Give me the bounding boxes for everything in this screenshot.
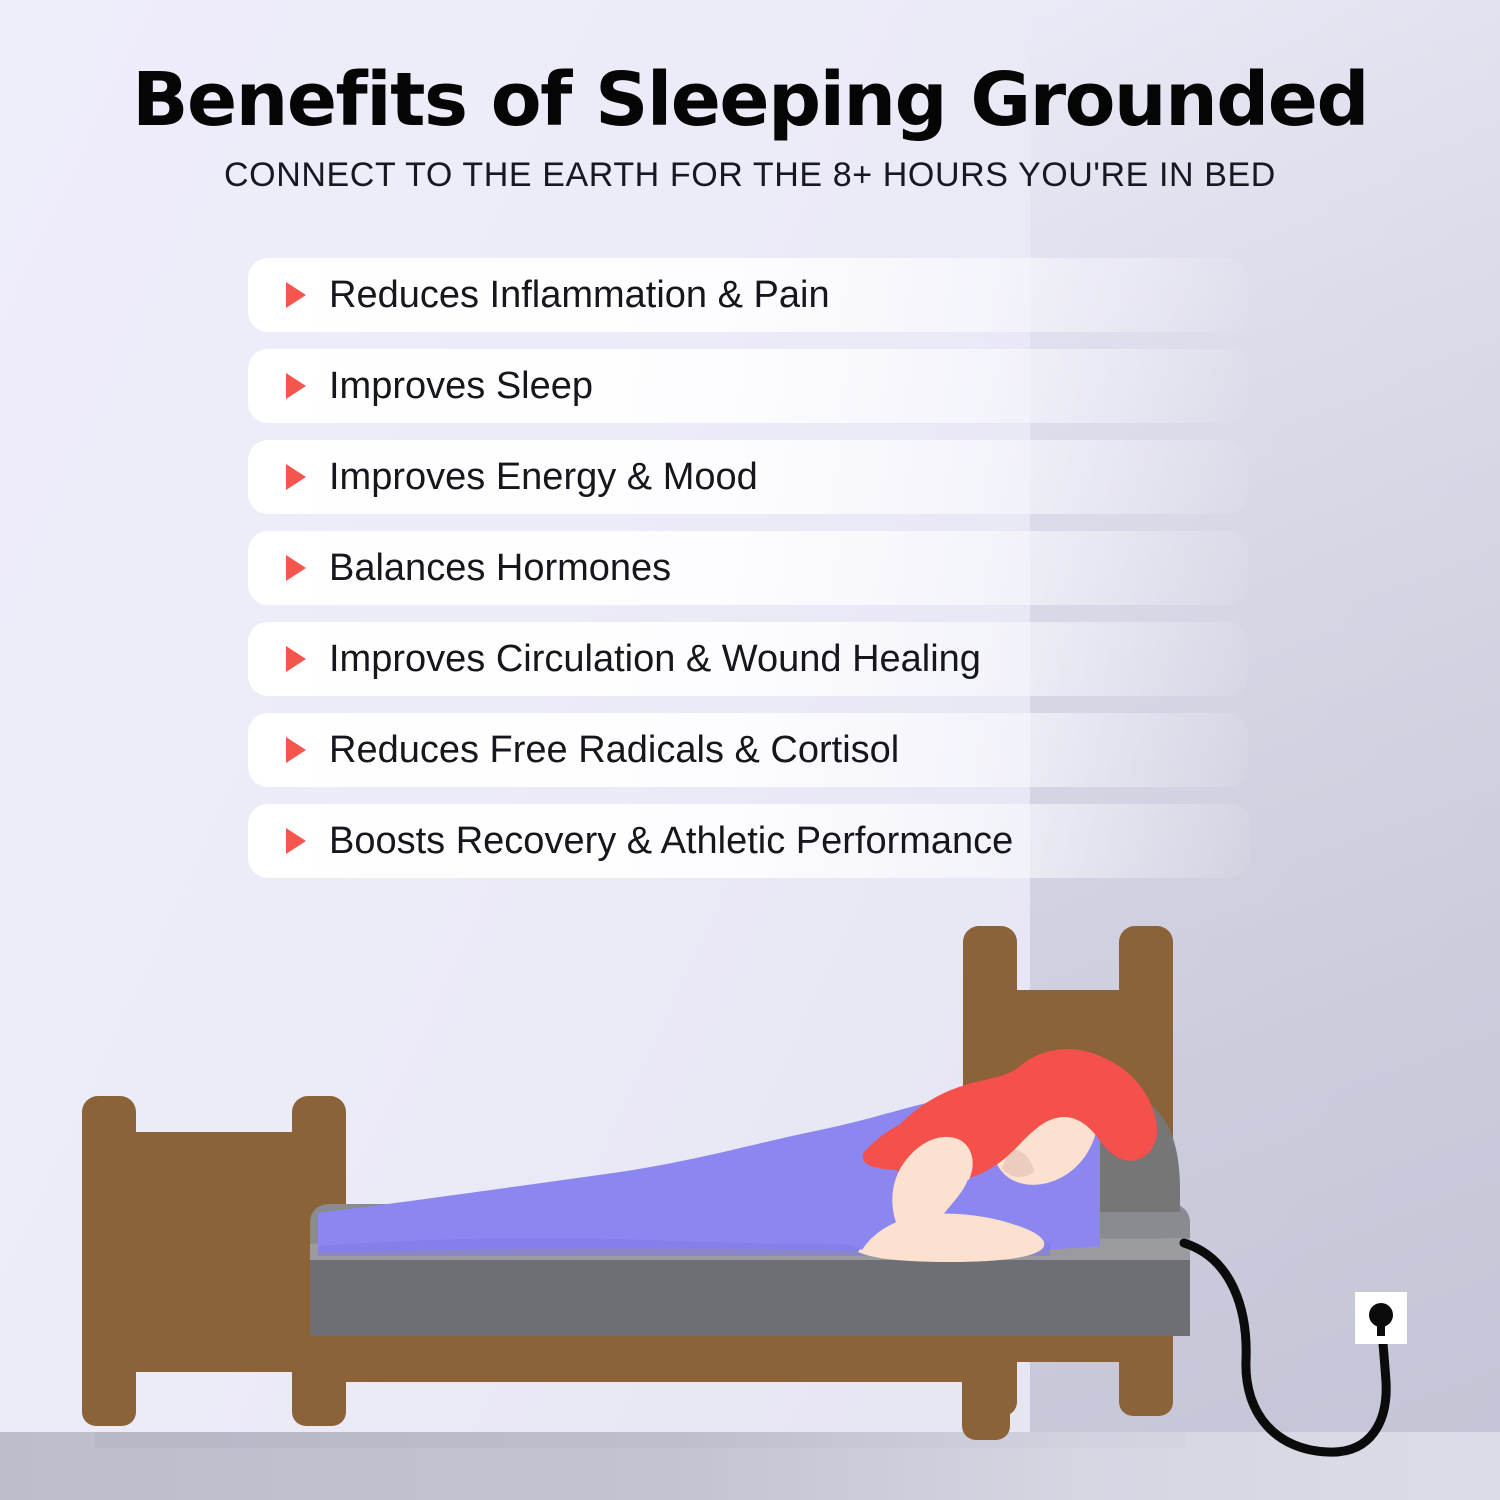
blanket-fold — [318, 1238, 1050, 1256]
bed-leg-right — [962, 1330, 1010, 1440]
hair — [879, 1049, 1157, 1182]
footboard — [82, 1096, 346, 1426]
play-triangle-icon — [286, 828, 306, 854]
plug-stem — [1377, 1320, 1385, 1336]
benefit-label: Reduces Inflammation & Pain — [329, 274, 830, 317]
arm-upper — [894, 1137, 972, 1244]
benefit-item[interactable]: Reduces Free Radicals & Cortisol — [248, 713, 1248, 787]
mattress-lower — [310, 1244, 1190, 1336]
cheek-shadow — [1002, 1148, 1034, 1177]
mattress-top — [310, 1204, 1190, 1244]
forearm-hand — [858, 1216, 1042, 1262]
play-triangle-icon — [286, 282, 306, 308]
benefit-label: Improves Energy & Mood — [329, 456, 758, 499]
benefit-label: Improves Circulation & Wound Healing — [329, 638, 981, 681]
benefit-item[interactable]: Balances Hormones — [248, 531, 1248, 605]
gray-pillow — [1010, 1090, 1180, 1212]
grounding-cord — [1184, 1243, 1386, 1452]
poster-canvas: Benefits of Sleeping Grounded CONNECT TO… — [0, 0, 1500, 1500]
benefit-item[interactable]: Reduces Inflammation & Pain — [248, 258, 1248, 332]
arm-overlay — [892, 1139, 970, 1246]
page-subtitle: CONNECT TO THE EARTH FOR THE 8+ HOURS YO… — [0, 156, 1500, 195]
benefit-label: Balances Hormones — [329, 547, 671, 590]
sleeping-person — [858, 1049, 1157, 1262]
play-triangle-icon — [286, 737, 306, 763]
play-triangle-icon — [286, 646, 306, 672]
purple-pillow — [842, 1175, 1050, 1257]
play-triangle-icon — [286, 555, 306, 581]
benefit-label: Improves Sleep — [329, 365, 593, 408]
face — [991, 1066, 1099, 1185]
benefits-list: Reduces Inflammation & PainImproves Slee… — [248, 258, 1250, 895]
play-triangle-icon — [286, 373, 306, 399]
hair-strand — [863, 1114, 982, 1170]
sheet-shadow — [310, 1231, 1190, 1261]
play-triangle-icon — [286, 464, 306, 490]
blanket — [318, 1090, 1100, 1252]
benefit-item[interactable]: Improves Circulation & Wound Healing — [248, 622, 1248, 696]
headboard — [963, 926, 1173, 1416]
header: Benefits of Sleeping Grounded CONNECT TO… — [0, 0, 1500, 195]
page-title: Benefits of Sleeping Grounded — [0, 62, 1500, 140]
bed-rail — [310, 1330, 1010, 1382]
forearm-overlay — [862, 1214, 1044, 1261]
benefit-label: Boosts Recovery & Athletic Performance — [329, 820, 1013, 863]
floor-shadow — [95, 1432, 1185, 1448]
benefit-label: Reduces Free Radicals & Cortisol — [329, 729, 899, 772]
benefit-item[interactable]: Boosts Recovery & Athletic Performance — [248, 804, 1250, 878]
benefit-item[interactable]: Improves Energy & Mood — [248, 440, 1248, 514]
benefit-item[interactable]: Improves Sleep — [248, 349, 1248, 423]
wall-outlet — [1355, 1292, 1407, 1344]
